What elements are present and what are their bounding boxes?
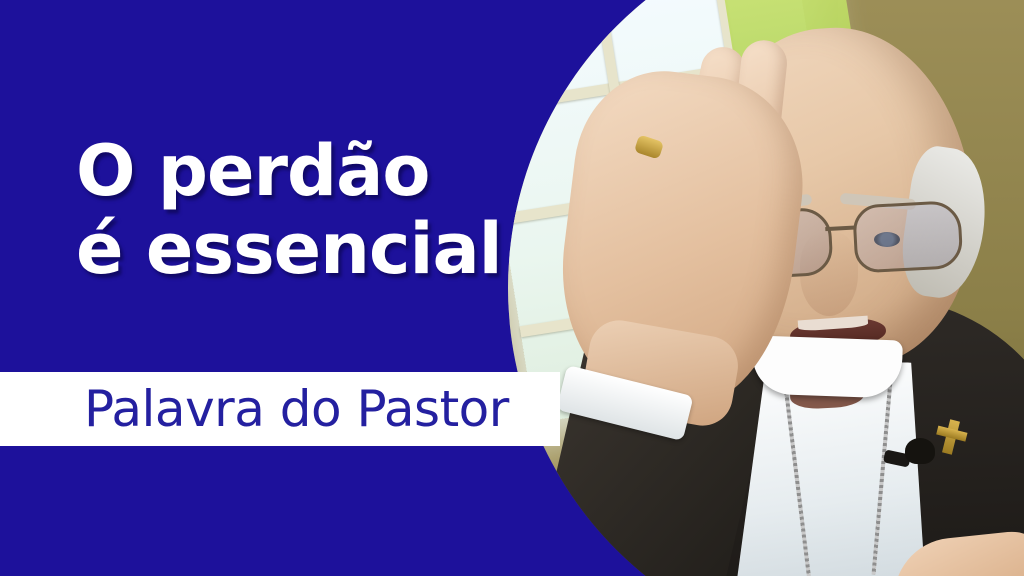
- portrait-photo: [508, 0, 1024, 576]
- headline-title: O perdão é essencial: [76, 132, 546, 288]
- program-label: Palavra do Pastor: [84, 380, 509, 438]
- video-title-card: O perdão é essencial Palavra do Pastor: [0, 0, 1024, 576]
- eyeglass-bridge: [825, 225, 855, 231]
- eyeglass-lens: [852, 200, 963, 274]
- portrait-photo-content: [508, 0, 1024, 576]
- program-label-band: Palavra do Pastor: [0, 372, 560, 446]
- lapel-microphone: [905, 438, 935, 464]
- clerical-collar: [751, 335, 903, 398]
